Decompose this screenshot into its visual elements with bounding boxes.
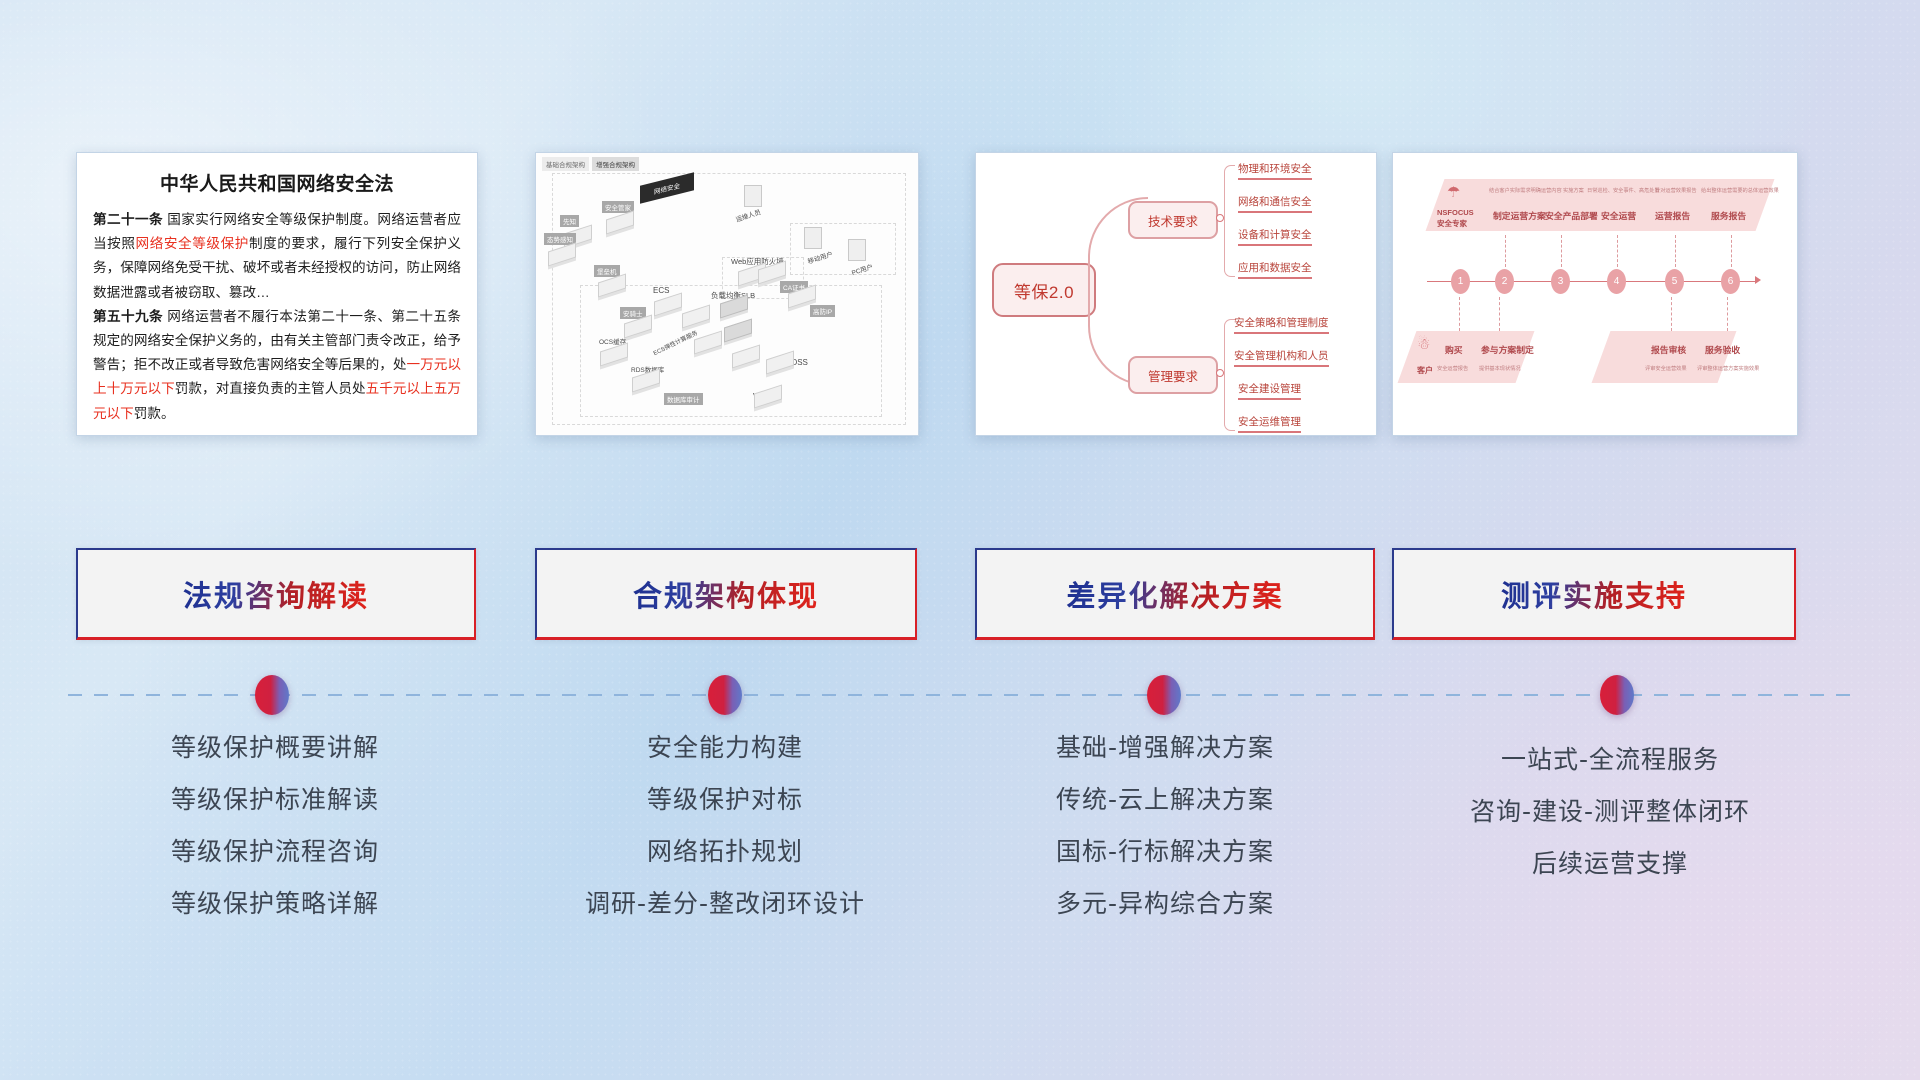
detail-item: 咨询-建设-测评整体闭环 bbox=[1375, 799, 1845, 824]
timeline-dot-3[interactable] bbox=[1147, 675, 1181, 715]
detail-column-3: 基础-增强解决方案 传统-云上解决方案 国标-行标解决方案 多元-异构综合方案 bbox=[930, 735, 1400, 943]
timeline-dashed-line bbox=[68, 694, 1858, 696]
heading-box-assessment-support[interactable]: 测评实施支持 bbox=[1392, 548, 1796, 640]
detail-item: 网络拓扑规划 bbox=[490, 839, 960, 864]
heading-box-regulation-consulting[interactable]: 法规咨询解读 bbox=[76, 548, 476, 640]
timeline-dot-4[interactable] bbox=[1600, 675, 1634, 715]
detail-item: 等级保护策略详解 bbox=[40, 891, 510, 916]
detail-item: 等级保护流程咨询 bbox=[40, 839, 510, 864]
heading-box-differentiated-solution[interactable]: 差异化解决方案 bbox=[975, 548, 1375, 640]
detail-column-4: 一站式-全流程服务 咨询-建设-测评整体闭环 后续运营支撑 bbox=[1375, 747, 1845, 903]
heading-label-1: 法规咨询解读 bbox=[183, 573, 369, 615]
heading-label-3: 差异化解决方案 bbox=[1066, 573, 1283, 615]
detail-item: 传统-云上解决方案 bbox=[930, 787, 1400, 812]
detail-item: 一站式-全流程服务 bbox=[1375, 747, 1845, 772]
detail-item: 等级保护对标 bbox=[490, 787, 960, 812]
timeline-dot-1[interactable] bbox=[255, 675, 289, 715]
detail-item: 等级保护标准解读 bbox=[40, 787, 510, 812]
detail-item: 国标-行标解决方案 bbox=[930, 839, 1400, 864]
timeline-dot-2[interactable] bbox=[708, 675, 742, 715]
detail-item: 调研-差分-整改闭环设计 bbox=[490, 891, 960, 916]
detail-item: 等级保护概要讲解 bbox=[40, 735, 510, 760]
detail-item: 安全能力构建 bbox=[490, 735, 960, 760]
detail-item: 后续运营支撑 bbox=[1375, 851, 1845, 876]
detail-column-1: 等级保护概要讲解 等级保护标准解读 等级保护流程咨询 等级保护策略详解 bbox=[40, 735, 510, 943]
heading-box-compliance-architecture[interactable]: 合规架构体现 bbox=[535, 548, 917, 640]
detail-item: 多元-异构综合方案 bbox=[930, 891, 1400, 916]
heading-label-4: 测评实施支持 bbox=[1501, 573, 1687, 615]
detail-item: 基础-增强解决方案 bbox=[930, 735, 1400, 760]
heading-label-2: 合规架构体现 bbox=[633, 573, 819, 615]
detail-column-2: 安全能力构建 等级保护对标 网络拓扑规划 调研-差分-整改闭环设计 bbox=[490, 735, 960, 943]
